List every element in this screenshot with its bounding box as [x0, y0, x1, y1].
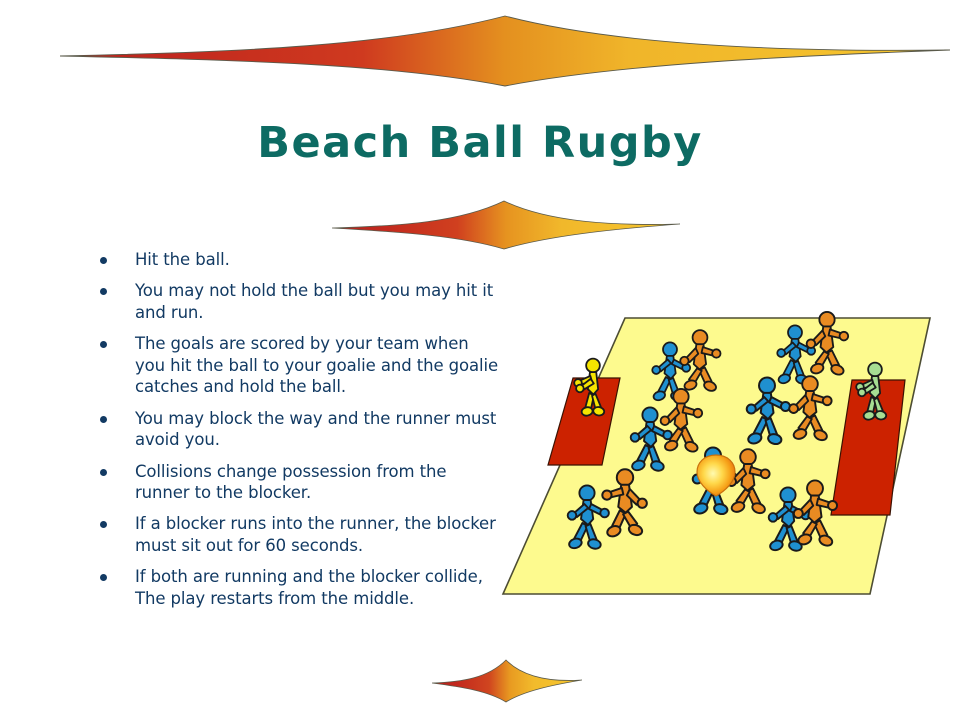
- list-item-label: The goals are scored by your team when y…: [135, 333, 500, 397]
- list-item: Hit the ball.: [100, 249, 500, 270]
- list-item: Collisions change possession from the ru…: [100, 461, 500, 504]
- bullet-dot-icon: [100, 469, 107, 476]
- list-item: You may not hold the ball but you may hi…: [100, 280, 500, 323]
- bullet-dot-icon: [100, 288, 107, 295]
- list-item: The goals are scored by your team when y…: [100, 333, 500, 397]
- list-item-label: Collisions change possession from the ru…: [135, 461, 500, 504]
- decorative-star-ornament-middle: [332, 196, 680, 252]
- list-item-label: If a blocker runs into the runner, the b…: [135, 513, 500, 556]
- bullet-dot-icon: [100, 341, 107, 348]
- bullet-dot-icon: [100, 521, 107, 528]
- list-item-label: Hit the ball.: [135, 249, 500, 270]
- list-item-label: You may not hold the ball but you may hi…: [135, 280, 500, 323]
- list-item: You may block the way and the runner mus…: [100, 408, 500, 451]
- page-title: Beach Ball Rugby: [0, 118, 960, 168]
- list-item-label: You may block the way and the runner mus…: [135, 408, 500, 451]
- beach-ball-rugby-field-diagram: [495, 305, 945, 605]
- list-item-label: If both are running and the blocker coll…: [135, 566, 500, 609]
- bullet-dot-icon: [100, 257, 107, 264]
- bullet-list: Hit the ball. You may not hold the ball …: [100, 249, 500, 619]
- bullet-dot-icon: [100, 574, 107, 581]
- list-item: If both are running and the blocker coll…: [100, 566, 500, 609]
- bullet-dot-icon: [100, 416, 107, 423]
- list-item: If a blocker runs into the runner, the b…: [100, 513, 500, 556]
- decorative-star-ornament-top: [60, 8, 950, 88]
- decorative-star-ornament-bottom: [432, 656, 582, 704]
